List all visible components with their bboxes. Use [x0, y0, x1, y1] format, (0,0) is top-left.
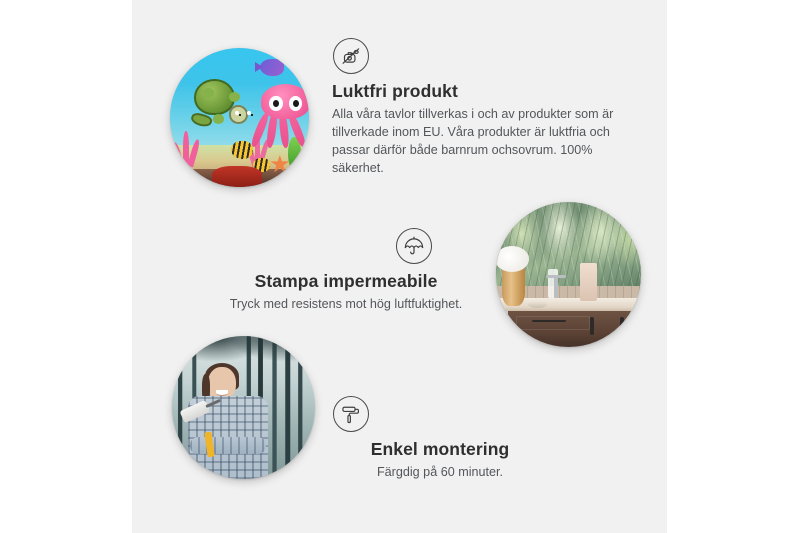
feature-title: Enkel montering	[325, 439, 555, 460]
underwater-kids-scene-image	[170, 48, 309, 187]
feature-description: Färgdig på 60 minuter.	[325, 464, 555, 482]
feature-waterproof-print: Stampa impermeabile Tryck med resistens …	[216, 228, 476, 314]
feature-easy-mounting: Enkel montering Färgdig på 60 minuter.	[325, 396, 555, 482]
feature-title: Luktfri produkt	[332, 81, 622, 102]
feature-description: Alla våra tavlor tillverkas i och av pro…	[332, 106, 622, 178]
feature-description: Tryck med resistens mot hög luftfuktighe…	[216, 296, 476, 314]
promo-graphic: Luktfri produkt Alla våra tavlor tillver…	[0, 0, 800, 533]
woman-with-paint-roller-forest-image	[172, 336, 315, 479]
bathroom-vanity-image	[496, 202, 641, 347]
feature-title: Stampa impermeabile	[216, 271, 476, 292]
no-odour-perfume-icon	[333, 38, 369, 74]
umbrella-icon	[396, 228, 432, 264]
feature-odour-free: Luktfri produkt Alla våra tavlor tillver…	[332, 38, 622, 178]
paint-roller-icon	[333, 396, 369, 432]
